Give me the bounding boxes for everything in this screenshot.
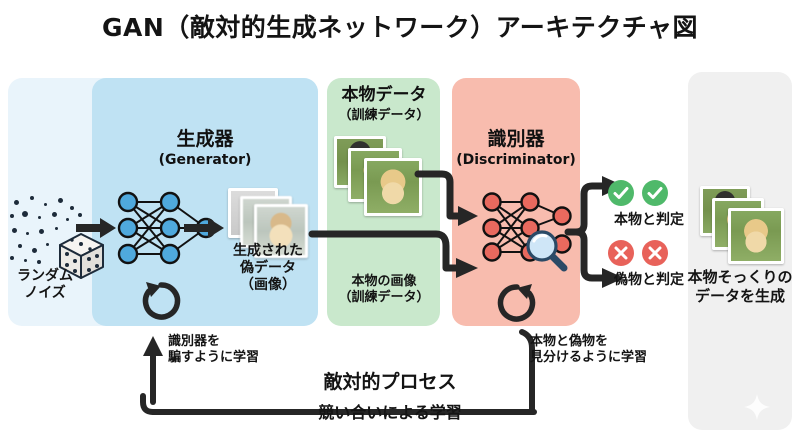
generator-title: 生成器 (Generator) <box>92 128 318 169</box>
noise-label: ランダムノイズ <box>2 268 88 302</box>
gan-architecture-diagram: GAN（敵対的生成ネットワーク）アーキテクチャ図 <box>0 0 800 436</box>
discriminator-refresh-loop-icon <box>494 282 540 326</box>
discriminator-title: 識別器 (Discriminator) <box>446 128 586 169</box>
generator-feedback-label: 識別器を騙すように学習 <box>168 334 308 366</box>
fake-data-label: 生成された偽データ（画像） <box>212 243 324 294</box>
output-real-label: 本物と判定 <box>594 212 704 229</box>
adversarial-process-subtitle: 競い合いによる学習 <box>280 399 500 423</box>
output-real-badges <box>608 180 678 208</box>
x-circle-icon <box>642 240 668 266</box>
check-circle-icon <box>608 180 634 206</box>
result-label: 本物そっくりのデータを生成 <box>686 268 794 306</box>
arrow-generator-to-fake-data <box>184 215 226 241</box>
check-circle-icon <box>642 180 668 206</box>
discriminator-title-jp: 識別器 <box>446 128 586 151</box>
discriminator-feedback-label: 本物と偽物を見分けるように学習 <box>530 334 680 366</box>
generator-refresh-loop-icon <box>138 280 184 324</box>
result-image-stack-icon <box>700 186 788 268</box>
discriminator-title-en: (Discriminator) <box>446 151 586 169</box>
arrow-fake-data-to-discriminator <box>312 228 480 292</box>
output-fake-badges <box>608 240 678 268</box>
sparkle-icon <box>742 392 772 422</box>
arrow-real-data-to-discriminator <box>418 168 480 232</box>
real-data-title: 本物データ （訓練データ） <box>324 84 444 125</box>
x-circle-icon <box>608 240 634 266</box>
generator-title-en: (Generator) <box>92 151 318 169</box>
real-data-title-en: （訓練データ） <box>324 107 444 125</box>
adversarial-process-title: 敵対的プロセス <box>280 367 500 394</box>
arrow-noise-to-generator <box>76 215 118 241</box>
generator-title-jp: 生成器 <box>92 128 318 151</box>
page-title: GAN（敵対的生成ネットワーク）アーキテクチャ図 <box>0 8 800 44</box>
magnifying-glass-icon <box>522 226 570 274</box>
real-data-title-jp: 本物データ <box>324 84 444 107</box>
